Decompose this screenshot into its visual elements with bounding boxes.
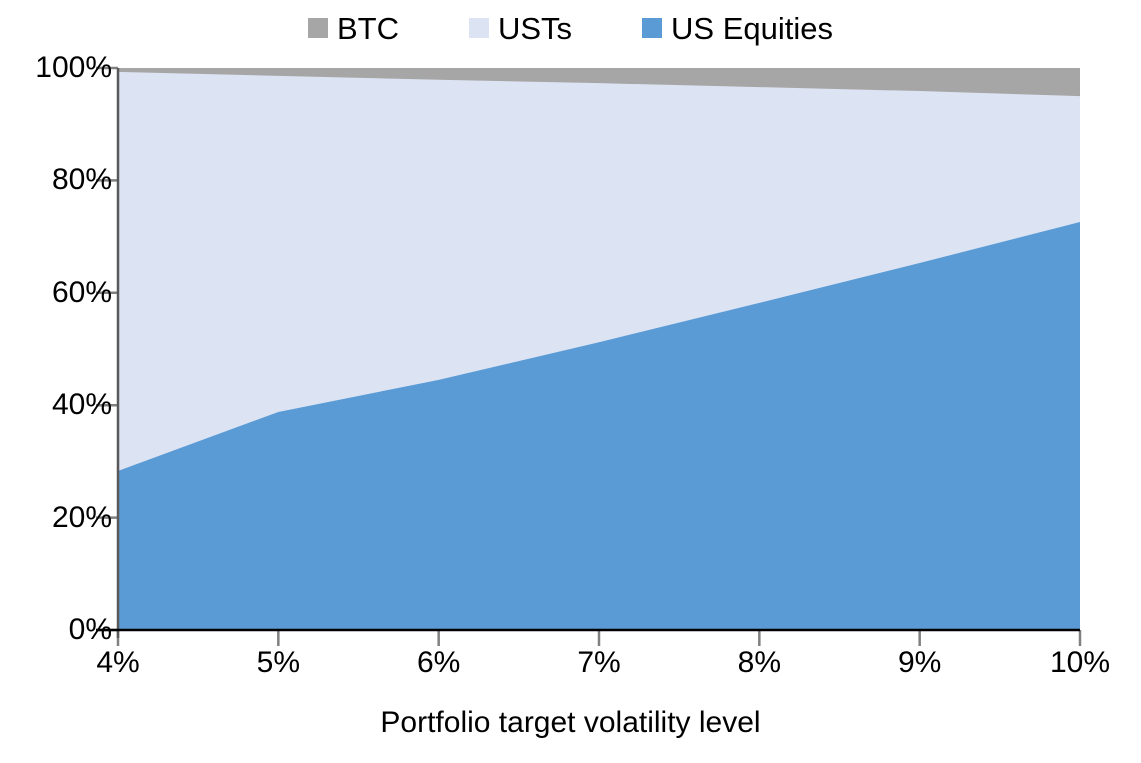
y-axis-tick-label: 80% [0, 165, 112, 195]
stacked-area-chart: BTC USTs US Equities 0%20%40%60%80%100% … [0, 0, 1141, 763]
y-axis-tick-label: 40% [0, 390, 112, 420]
y-axis-tick-label: 0% [0, 615, 112, 645]
y-axis-tick-label: 60% [0, 278, 112, 308]
x-axis-tick-label: 7% [577, 648, 620, 678]
x-axis-title: Portfolio target volatility level [0, 706, 1141, 740]
x-axis-tick-label: 8% [738, 648, 781, 678]
x-axis-tick-label: 4% [96, 648, 139, 678]
x-axis-tick-label: 5% [257, 648, 300, 678]
area-series-group [118, 68, 1080, 630]
x-axis-tick-label: 9% [898, 648, 941, 678]
x-axis-tick-label: 6% [417, 648, 460, 678]
y-axis-tick-label: 20% [0, 503, 112, 533]
x-axis-tick-labels: 4%5%6%7%8%9%10% [0, 648, 1141, 694]
y-axis-tick-label: 100% [0, 53, 112, 83]
x-axis-tick-label: 10% [1050, 648, 1110, 678]
